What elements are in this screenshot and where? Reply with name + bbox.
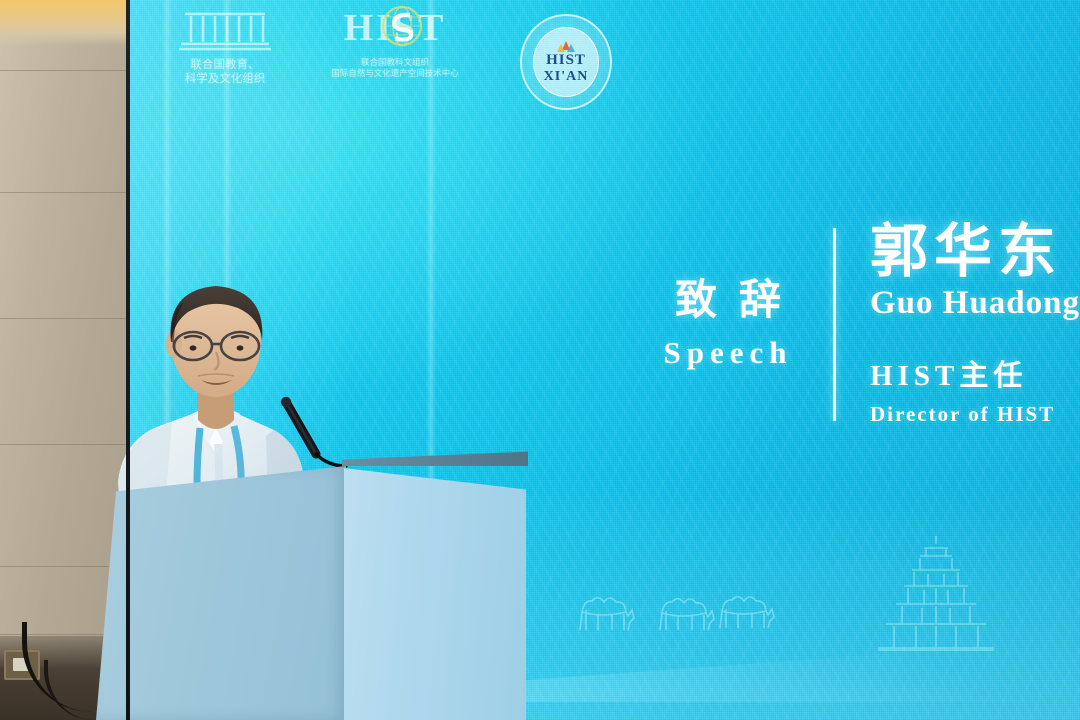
ceiling-light-strip: [0, 0, 132, 46]
unesco-caption-line1: 联合国教育、: [185, 57, 266, 71]
conference-stage-photo: 联合国教育、 科学及文化组织 HIST 联合国教科文组织: [0, 0, 1080, 720]
speech-label-cn: 致辞: [653, 279, 803, 321]
unesco-logo: 联合国教育、 科学及文化组织: [150, 4, 300, 86]
speech-label-en: Speech: [663, 335, 792, 371]
screen-logo-row: 联合国教育、 科学及文化组织 HIST 联合国教科文组织: [150, 4, 626, 116]
circular-seal-icon: HIST XI'AN: [520, 14, 612, 110]
hist-xian-seal: HIST XI'AN: [506, 14, 626, 110]
podium-top-surface: [342, 450, 528, 466]
speaker-name-cn: 郭华东: [870, 222, 1080, 281]
podium: 联合国教育、科学及文化组织 HIST 联合国教: [96, 452, 526, 720]
podium-front-face: 联合国教育、科学及文化组织 HIST 联合国教: [344, 452, 526, 720]
speech-label-group: 致辞 Speech: [653, 222, 833, 427]
speaker-title-en: Director of HIST: [870, 402, 1080, 427]
hist-caption-line2: 国际自然与文化遗产空间技术中心: [331, 69, 459, 80]
screen-bezel: [126, 0, 130, 720]
hist-caption-line1: 联合国教科文组织: [331, 58, 459, 69]
screen-headline: 致辞 Speech 郭华东 Guo Huadong HIST主任 Directo…: [653, 222, 1080, 427]
temple-icon: [177, 4, 273, 52]
seal-line2: XI'AN: [544, 69, 589, 85]
speaker-title-cn: HIST主任: [870, 352, 1080, 394]
podium-left-face: [96, 466, 346, 720]
unesco-caption-line2: 科学及文化组织: [185, 71, 266, 85]
speaker-name-group: 郭华东 Guo Huadong HIST主任 Director of HIST: [836, 222, 1080, 427]
seal-line1: HIST: [546, 52, 586, 69]
hist-logo: HIST 联合国教科文组织 国际自然与文化遗产空间技术中心: [310, 4, 480, 79]
globe-s-icon: [380, 4, 424, 48]
speaker-name-en: Guo Huadong: [870, 285, 1080, 322]
